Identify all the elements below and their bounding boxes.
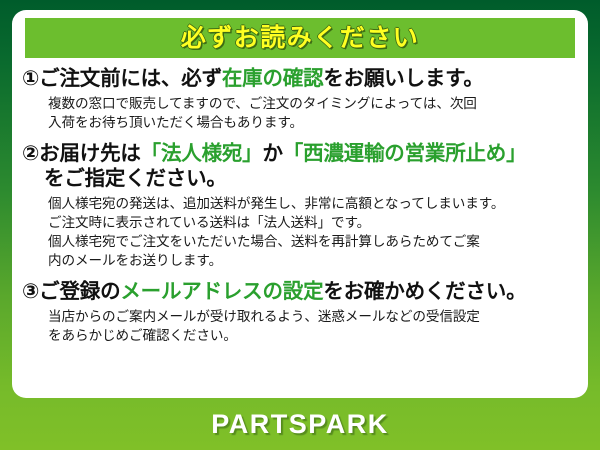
- notice-section: ①ご注文前には、必ず在庫の確認をお願いします。複数の窓口で販売してますので、ご注…: [12, 66, 588, 133]
- heading-highlight: 在庫の確認: [222, 67, 324, 90]
- section-body-line: 当店からのご案内メールが受け取れるよう、迷惑メールなどの受信設定: [48, 307, 578, 326]
- section-body-line: 個人様宅宛の発送は、追加送料が発生し、非常に高額となってしまいます。: [48, 194, 578, 213]
- notice-section: ③ご登録のメールアドレスの設定をお確かめください。当店からのご案内メールが受け取…: [12, 279, 588, 346]
- section-body-line: ご注文時に表示されている送料は「法人送料」です。: [48, 213, 578, 232]
- section-body: 当店からのご案内メールが受け取れるよう、迷惑メールなどの受信設定をあらかじめご確…: [22, 307, 578, 346]
- notice-section: ②お届け先は「法人様宛」か「西濃運輸の営業所止め」をご指定ください。個人様宅宛の…: [12, 141, 588, 271]
- section-body: 個人様宅宛の発送は、追加送料が発生し、非常に高額となってしまいます。ご注文時に表…: [22, 194, 578, 271]
- page-title: 必ずお読みください: [181, 26, 420, 51]
- notice-banner: 必ずお読みください ①ご注文前には、必ず在庫の確認をお願いします。複数の窓口で販…: [0, 0, 600, 450]
- section-body-line: 入荷をお待ち頂いただく場合もあります。: [48, 113, 578, 132]
- notice-panel: 必ずお読みください ①ご注文前には、必ず在庫の確認をお願いします。複数の窓口で販…: [12, 10, 588, 398]
- heading-text: ご登録の: [39, 280, 120, 303]
- heading-highlight: 「西濃運輸の営業所止め」: [283, 142, 527, 165]
- section-body-line: をあらかじめご確認ください。: [48, 326, 578, 345]
- header-banner: 必ずお読みください: [25, 18, 575, 58]
- notice-sections: ①ご注文前には、必ず在庫の確認をお願いします。複数の窓口で販売してますので、ご注…: [12, 66, 588, 345]
- heading-text: ご注文前には、必ず: [39, 67, 222, 90]
- section-heading: ②お届け先は「法人様宛」か「西濃運輸の営業所止め」: [22, 141, 578, 166]
- section-number-icon: ③: [22, 280, 39, 303]
- section-number-icon: ②: [22, 142, 39, 165]
- section-body-line: 内のメールをお送りします。: [48, 251, 578, 270]
- section-heading-line2: をご指定ください。: [22, 166, 578, 191]
- section-heading: ③ご登録のメールアドレスの設定をお確かめください。: [22, 279, 578, 304]
- heading-text: お届け先は: [39, 142, 141, 165]
- heading-text: をお願いします。: [323, 67, 483, 90]
- section-body-line: 複数の窓口で販売してますので、ご注文のタイミングによっては、次回: [48, 94, 578, 113]
- heading-highlight: 「法人様宛」: [141, 142, 263, 165]
- section-number-icon: ①: [22, 67, 39, 90]
- section-heading: ①ご注文前には、必ず在庫の確認をお願いします。: [22, 66, 578, 91]
- brand-logo-text: PARTSPARK: [211, 411, 389, 438]
- heading-text: か: [262, 142, 282, 165]
- heading-highlight: メールアドレスの設定: [120, 280, 323, 303]
- footer-brand-bar: PARTSPARK: [0, 398, 600, 450]
- section-body: 複数の窓口で販売してますので、ご注文のタイミングによっては、次回入荷をお待ち頂い…: [22, 94, 578, 133]
- section-body-line: 個人様宅宛でご注文をいただいた場合、送料を再計算しあらためてご案: [48, 232, 578, 251]
- heading-text: をお確かめください。: [323, 280, 526, 303]
